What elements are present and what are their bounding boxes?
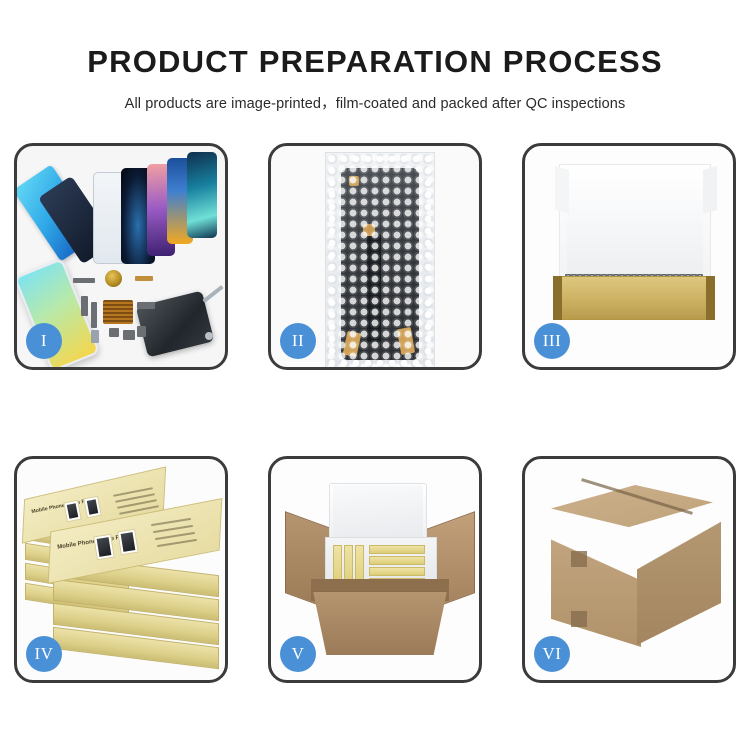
tweezers-icon [202,285,223,303]
small-part-icon-3 [81,296,88,316]
step-badge-2: II [280,323,316,359]
page-title: PRODUCT PREPARATION PROCESS [0,44,750,80]
camera-ring-part-icon [105,270,122,287]
carton-tape-patch-top-icon [571,551,587,567]
inner-yellow-box-6 [369,567,425,576]
box-thumb-front-2 [117,529,139,556]
step-badge-5: V [280,636,316,672]
process-step-panel-3: III [522,143,736,370]
small-part-icon-4 [91,302,97,328]
small-part-icon-9 [137,326,146,337]
process-step-panel-4: Mobile Phone Spare Parts Mobile Phone Sp… [14,456,228,683]
inner-yellow-box-5 [369,556,425,565]
step-badge-6: VI [534,636,570,672]
small-part-icon-2 [135,276,153,281]
header: PRODUCT PREPARATION PROCESS All products… [0,0,750,113]
process-step-panel-6: VI [522,456,736,683]
bubble-texture-overlay [325,152,435,367]
small-part-icon-5 [137,302,155,309]
carton-left-face-icon [551,519,641,647]
foam-box-lid-top-icon [333,485,423,537]
box-corner-right-icon [706,276,715,320]
process-step-panel-5: V [268,456,482,683]
box-flap-left-icon [555,166,569,214]
circuit-board-part-icon [103,300,133,324]
small-part-icon-7 [123,330,135,340]
carton-right-face-icon [637,505,721,645]
product-preparation-process-page: PRODUCT PREPARATION PROCESS All products… [0,0,750,750]
inner-yellow-box-4 [369,545,425,554]
step-badge-1: I [26,323,62,359]
small-part-icon-6 [109,328,119,337]
carton-tape-patch-bottom-icon [571,611,587,627]
screw-icon [205,332,213,340]
box-base-icon [553,276,715,320]
process-step-panel-1: I [14,143,228,370]
small-part-icon-8 [91,330,99,343]
step-badge-4: IV [26,636,62,672]
step-badge-3: III [534,323,570,359]
process-step-grid: I II [14,143,736,683]
page-subtitle: All products are image-printed，film-coat… [0,92,750,113]
process-step-panel-2: II [268,143,482,370]
small-part-icon-1 [73,278,95,283]
carton-front-face-icon [313,591,447,655]
box-flap-right-icon [703,166,717,214]
box-corner-left-icon [553,276,562,320]
phone-teal-wallpaper-icon [187,152,217,238]
box-thumb-front-1 [93,534,115,561]
foam-sheet-icon [567,198,703,280]
